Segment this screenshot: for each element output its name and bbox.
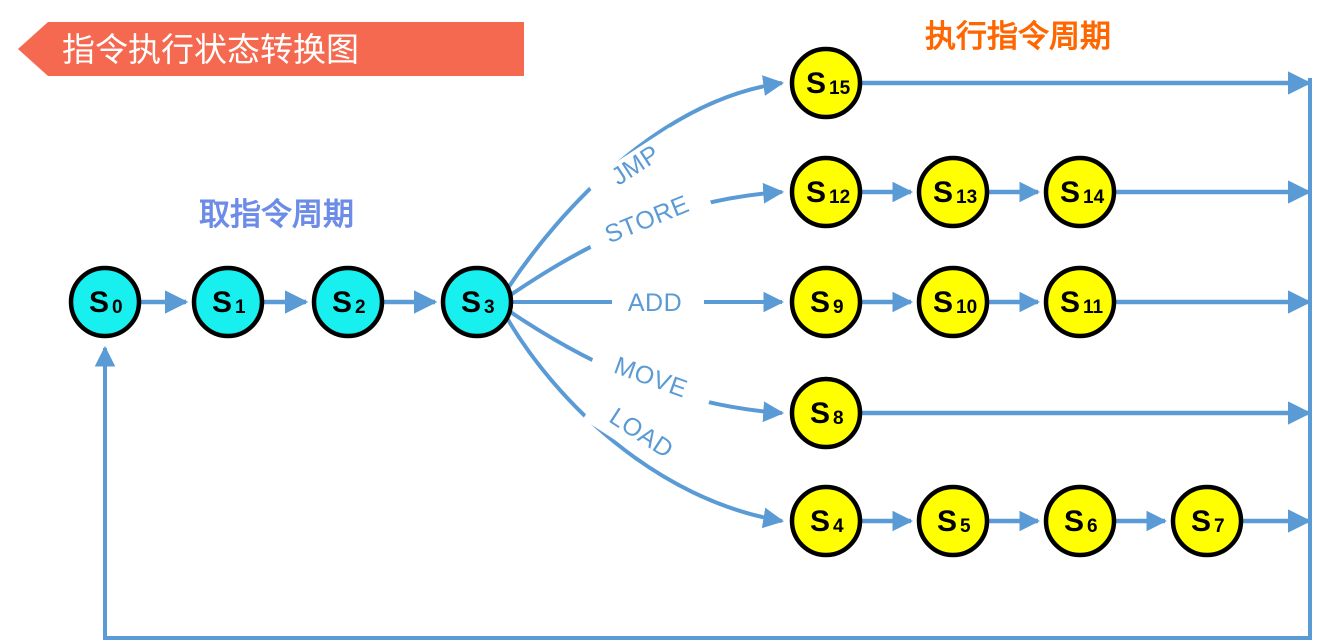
execute-row-edges xyxy=(862,192,1165,521)
state-transition-diagram: 指令执行状态转换图 取指令周期 执行指令周期 JM xyxy=(0,0,1327,643)
node-s13-label: S xyxy=(933,176,953,209)
node-s2[interactable]: S 2 xyxy=(314,268,382,336)
fetch-cycle-caption: 取指令周期 xyxy=(199,197,354,232)
node-s1-label: S xyxy=(212,286,232,319)
node-s9-label: S xyxy=(810,286,830,319)
node-s3[interactable]: S 3 xyxy=(443,268,511,336)
node-s6[interactable]: S 6 xyxy=(1046,487,1114,555)
node-s4-sub: 4 xyxy=(833,516,844,537)
node-s5-label: S xyxy=(937,505,957,538)
node-s0-sub: 0 xyxy=(112,297,123,318)
node-s12[interactable]: S 12 xyxy=(792,158,860,226)
node-s2-label: S xyxy=(332,286,352,319)
node-s7-label: S xyxy=(1191,505,1211,538)
node-s3-label: S xyxy=(461,286,481,319)
node-s10[interactable]: S 10 xyxy=(919,268,987,336)
node-s6-sub: 6 xyxy=(1087,516,1098,537)
node-s15[interactable]: S 15 xyxy=(792,49,860,117)
node-s14-sub: 14 xyxy=(1083,187,1105,208)
node-s11-sub: 11 xyxy=(1083,297,1104,318)
edge-label-add: ADD xyxy=(628,289,682,317)
node-s11-label: S xyxy=(1060,286,1080,319)
node-s8-label: S xyxy=(810,397,830,430)
node-s3-sub: 3 xyxy=(484,297,495,318)
node-s14-label: S xyxy=(1060,176,1080,209)
node-s13-sub: 13 xyxy=(956,187,977,208)
node-s1[interactable]: S 1 xyxy=(194,268,262,336)
node-s9[interactable]: S 9 xyxy=(792,268,860,336)
title-banner-label: 指令执行状态转换图 xyxy=(62,31,359,68)
node-s11[interactable]: S 11 xyxy=(1046,268,1114,336)
node-s0[interactable]: S 0 xyxy=(71,268,139,336)
node-s10-label: S xyxy=(933,286,953,319)
node-s9-sub: 9 xyxy=(833,297,844,318)
return-bus xyxy=(105,78,1310,638)
node-s7-sub: 7 xyxy=(1214,516,1225,537)
edge-s3-s15-jmp xyxy=(508,83,782,288)
node-s15-label: S xyxy=(806,67,826,100)
node-s10-sub: 10 xyxy=(956,297,977,318)
node-s12-sub: 12 xyxy=(829,187,850,208)
node-s0-label: S xyxy=(89,286,109,319)
node-s12-label: S xyxy=(806,176,826,209)
node-s8-sub: 8 xyxy=(833,408,844,429)
node-s1-sub: 1 xyxy=(235,297,246,318)
node-s14[interactable]: S 14 xyxy=(1046,158,1114,226)
return-path xyxy=(105,78,1310,638)
node-s13[interactable]: S 13 xyxy=(919,158,987,226)
execute-cycle-caption: 执行指令周期 xyxy=(925,19,1111,54)
node-s5[interactable]: S 5 xyxy=(919,487,987,555)
title-banner: 指令执行状态转换图 xyxy=(18,22,524,76)
diagram-svg: 指令执行状态转换图 取指令周期 执行指令周期 JM xyxy=(0,0,1327,643)
node-s4[interactable]: S 4 xyxy=(792,487,860,555)
node-s15-sub: 15 xyxy=(829,78,851,99)
node-s5-sub: 5 xyxy=(960,516,971,537)
node-s4-label: S xyxy=(810,505,830,538)
node-s2-sub: 2 xyxy=(355,297,366,318)
node-s8[interactable]: S 8 xyxy=(792,379,860,447)
node-s7[interactable]: S 7 xyxy=(1173,487,1241,555)
node-s6-label: S xyxy=(1064,505,1084,538)
